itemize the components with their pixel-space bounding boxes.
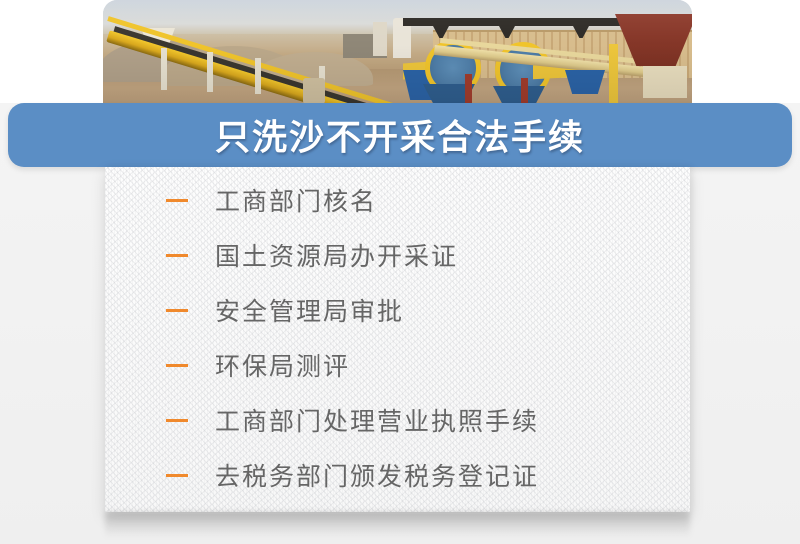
list-item: 环保局测评 (166, 350, 350, 380)
dash-bullet-icon (166, 364, 188, 367)
page-title: 只洗沙不开采合法手续 (8, 110, 792, 161)
photo-scene (103, 0, 692, 112)
list-item: 国土资源局办开采证 (166, 240, 458, 270)
dash-bullet-icon (166, 419, 188, 422)
list-item: 安全管理局审批 (166, 295, 404, 325)
list-item-label: 环保局测评 (215, 347, 350, 383)
list-item-label: 工商部门处理营业执照手续 (215, 402, 539, 438)
list-item: 去税务部门颁发税务登记证 (166, 460, 539, 490)
list-item-label: 去税务部门颁发税务登记证 (215, 457, 539, 493)
dash-bullet-icon (166, 474, 188, 477)
content-panel: 工商部门核名 国土资源局办开采证 安全管理局审批 环保局测评 工商部门处理营业执… (105, 167, 690, 512)
title-banner: 只洗沙不开采合法手续 (8, 103, 792, 167)
panel-drop-shadow (105, 512, 690, 538)
dash-bullet-icon (166, 309, 188, 312)
list-item: 工商部门处理营业执照手续 (166, 405, 539, 435)
list-item: 工商部门核名 (166, 185, 377, 215)
dash-bullet-icon (166, 199, 188, 202)
list-item-label: 安全管理局审批 (215, 292, 404, 328)
list-item-label: 工商部门核名 (215, 182, 377, 218)
dash-bullet-icon (166, 254, 188, 257)
photo-vignette (103, 0, 692, 112)
header-photo (103, 0, 692, 112)
list-item-label: 国土资源局办开采证 (215, 237, 458, 273)
infographic-page: 只洗沙不开采合法手续 工商部门核名 国土资源局办开采证 安全管理局审批 环保局测… (0, 0, 800, 544)
